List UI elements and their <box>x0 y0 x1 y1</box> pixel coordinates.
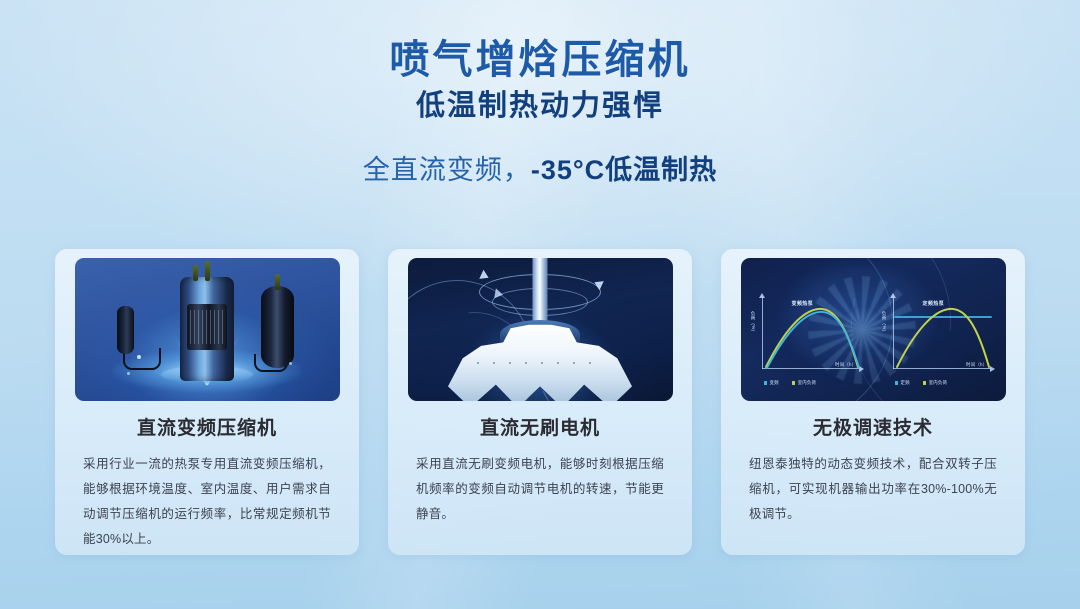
tagline-prefix: 全直流变频， <box>363 155 531 185</box>
port-stub <box>205 261 210 281</box>
feature-card-motor[interactable]: 直流无刷电机 采用直流无刷变频电机，能够时刻根据压缩机频率的变频自动调节电机的转… <box>388 249 692 555</box>
y-axis-label: 负荷（%） <box>751 311 757 335</box>
chart-legend: 定频 室内负荷 <box>895 380 948 386</box>
spark-dot <box>137 355 141 359</box>
legend-item: 变频 <box>764 380 779 386</box>
spark-dot <box>127 372 130 375</box>
card-title: 无极调速技术 <box>813 418 933 441</box>
tagline: 全直流变频，-35°C低温制热 <box>0 154 1080 186</box>
legend-label: 变频 <box>770 380 779 386</box>
slide-root: 喷气增焓压缩机 低温制热动力强悍 全直流变频，-35°C低温制热 <box>0 0 1080 609</box>
stepless-speed-chart-panel: 负荷（%） 时间（h） 变频热泵 变频 室内负荷 <box>741 258 1006 401</box>
port-stub <box>275 274 280 290</box>
card-description: 采用行业一流的热泵专用直流变频压缩机，能够根据环境温度、室内温度、用户需求自动调… <box>83 452 331 552</box>
legend-label: 定频 <box>901 380 910 386</box>
rotation-arrow <box>479 270 490 282</box>
page-title: 喷气增焓压缩机 <box>0 38 1080 83</box>
compressor-core <box>187 304 227 350</box>
legend-label: 室内负荷 <box>929 380 947 386</box>
card-title: 直流变频压缩机 <box>137 418 277 441</box>
legend-label: 室内负荷 <box>798 380 816 386</box>
chart-variable-frequency: 负荷（%） 时间（h） 变频热泵 变频 室内负荷 <box>750 295 866 387</box>
chart-legend: 变频 室内负荷 <box>764 380 817 386</box>
card-description: 纽恩泰独特的动态变频技术，配合双转子压缩机，可实现机器输出功率在30%-100%… <box>749 452 997 527</box>
accumulator-tank <box>261 286 294 368</box>
card-description: 采用直流无刷变频电机，能够时刻根据压缩机频率的变频自动调节电机的转速，节能更静音… <box>416 452 664 527</box>
feature-card-compressor[interactable]: 直流变频压缩机 采用行业一流的热泵专用直流变频压缩机，能够根据环境温度、室内温度… <box>55 249 359 555</box>
feature-card-stepless-speed[interactable]: 负荷（%） 时间（h） 变频热泵 变频 室内负荷 <box>721 249 1025 555</box>
header: 喷气增焓压缩机 低温制热动力强悍 全直流变频，-35°C低温制热 <box>0 38 1080 186</box>
dc-inverter-compressor-photo <box>75 258 340 401</box>
small-tank <box>117 306 134 354</box>
chart-curves <box>893 297 993 369</box>
series-indoor-load-line <box>766 309 858 367</box>
y-axis-label: 负荷（%） <box>882 311 888 335</box>
dc-brushless-motor-photo <box>408 258 673 401</box>
port-stub <box>193 265 198 281</box>
page-subtitle: 低温制热动力强悍 <box>0 89 1080 124</box>
chart-fixed-frequency: 负荷（%） 时间（h） 定频热泵 定频 室内负荷 <box>881 295 997 387</box>
rotation-arrow <box>494 288 504 299</box>
legend-item: 定频 <box>895 380 910 386</box>
legend-item: 室内负荷 <box>792 380 816 386</box>
card-title: 直流无刷电机 <box>480 418 600 441</box>
feature-card-list: 直流变频压缩机 采用行业一流的热泵专用直流变频压缩机，能够根据环境温度、室内温度… <box>55 249 1025 555</box>
legend-item: 室内负荷 <box>923 380 947 386</box>
chart-curves <box>762 297 862 369</box>
tagline-emphasis: -35°C低温制热 <box>531 155 717 185</box>
spark-dot <box>289 362 292 365</box>
